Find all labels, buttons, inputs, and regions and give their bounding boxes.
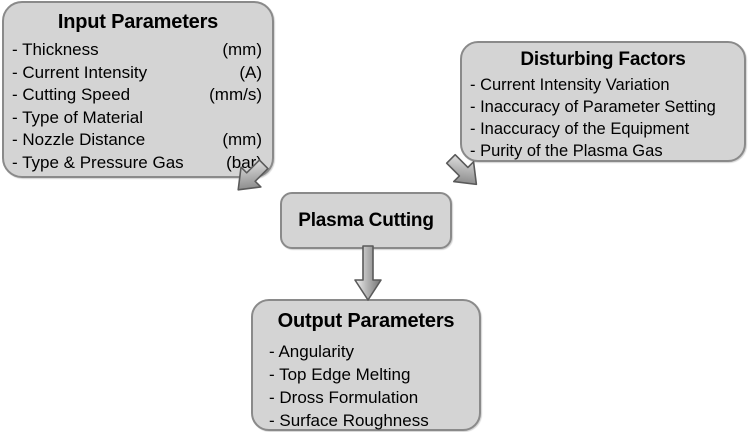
- list-item: - Current Intensity Variation: [470, 74, 738, 96]
- list-item-label: - Inaccuracy of Parameter Setting: [470, 96, 716, 118]
- list-item-label: - Purity of the Plasma Gas: [470, 140, 663, 162]
- list-item: - Cutting Speed (mm/s): [12, 84, 262, 107]
- output-parameters-list: - Angularity - Top Edge Melting - Dross …: [253, 332, 479, 432]
- disturbing-factors-list: - Current Intensity Variation - Inaccura…: [462, 70, 744, 162]
- list-item-label: - Current Intensity Variation: [470, 74, 670, 96]
- diagram-canvas: Input Parameters - Thickness (mm) - Curr…: [0, 0, 749, 432]
- list-item: - Angularity: [269, 340, 473, 363]
- list-item-label: - Nozzle Distance: [12, 129, 145, 152]
- arrow-process-to-output-icon: [352, 246, 384, 304]
- plasma-cutting-box: Plasma Cutting: [280, 192, 452, 249]
- arrow-input-to-process-icon: [240, 158, 300, 214]
- list-item: - Surface Roughness: [269, 409, 473, 432]
- list-item-label: - Inaccuracy of the Equipment: [470, 118, 689, 140]
- list-item-label: - Dross Formulation: [269, 386, 418, 409]
- list-item-unit: (mm/s): [209, 84, 262, 107]
- list-item-unit: (mm): [222, 129, 262, 152]
- plasma-cutting-title: Plasma Cutting: [298, 210, 434, 231]
- list-item-label: - Surface Roughness: [269, 409, 429, 432]
- list-item-label: - Thickness: [12, 39, 99, 62]
- list-item: - Current Intensity (A): [12, 62, 262, 85]
- list-item: - Inaccuracy of the Equipment: [470, 118, 738, 140]
- list-item-label: - Cutting Speed: [12, 84, 130, 107]
- output-parameters-title: Output Parameters: [253, 301, 479, 332]
- input-parameters-box: Input Parameters - Thickness (mm) - Curr…: [2, 1, 274, 178]
- list-item: - Nozzle Distance (mm): [12, 129, 262, 152]
- list-item: - Inaccuracy of Parameter Setting: [470, 96, 738, 118]
- list-item-label: - Type & Pressure Gas: [12, 152, 184, 175]
- disturbing-factors-title: Disturbing Factors: [462, 43, 744, 70]
- list-item-unit: (mm): [222, 39, 262, 62]
- list-item: - Dross Formulation: [269, 386, 473, 409]
- list-item-label: - Angularity: [269, 340, 354, 363]
- list-item-label: - Top Edge Melting: [269, 363, 410, 386]
- list-item-unit: (A): [239, 62, 262, 85]
- output-parameters-box: Output Parameters - Angularity - Top Edg…: [251, 299, 481, 431]
- list-item: - Purity of the Plasma Gas: [470, 140, 738, 162]
- disturbing-factors-box: Disturbing Factors - Current Intensity V…: [460, 41, 746, 162]
- arrow-disturbing-factors-to-process-icon: [428, 152, 488, 208]
- input-parameters-list: - Thickness (mm) - Current Intensity (A)…: [4, 33, 272, 174]
- list-item: - Type of Material: [12, 107, 262, 130]
- list-item-label: - Type of Material: [12, 107, 143, 130]
- list-item: - Type & Pressure Gas (bar): [12, 152, 262, 175]
- input-parameters-title: Input Parameters: [4, 3, 272, 33]
- list-item: - Top Edge Melting: [269, 363, 473, 386]
- list-item-label: - Current Intensity: [12, 62, 147, 85]
- list-item: - Thickness (mm): [12, 39, 262, 62]
